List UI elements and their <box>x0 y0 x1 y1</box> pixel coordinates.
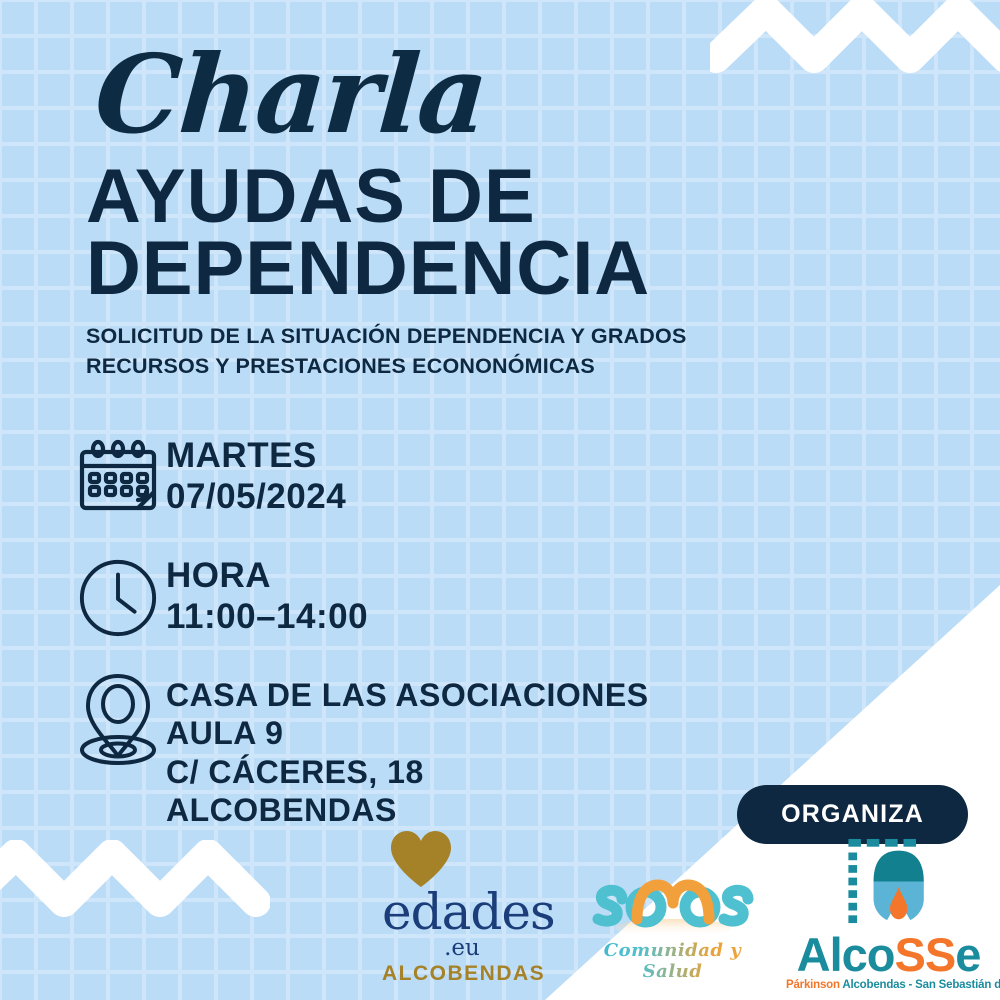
detail-time-line-2: 11:00–14:00 <box>166 597 368 638</box>
detail-date-text: MARTES 07/05/2024 <box>166 430 346 517</box>
detail-time-line-1: HORA <box>166 556 368 597</box>
detail-place-line-3: C/ CÁCERES, 18 <box>166 753 649 791</box>
logo-alcosse: AlcoSSe Párkinson Alcobendas - San Sebas… <box>786 835 991 992</box>
location-pin-icon <box>70 670 166 766</box>
heart-icon <box>388 829 454 889</box>
detail-place-line-1: CASA DE LAS ASOCIACIONES <box>166 676 649 714</box>
alcosse-word-part-3: e <box>955 928 980 981</box>
edades-wordmark: edades.eu <box>382 889 542 966</box>
subtitle-line-2: RECURSOS Y PRESTACIONES ECONONÓMICAS <box>86 351 786 382</box>
edades-subtitle: ALCOBENDAS <box>382 962 542 986</box>
detail-place-line-4: ALCOBENDAS <box>166 791 649 829</box>
detail-row-date: MARTES 07/05/2024 <box>70 430 770 526</box>
headline-block: Charla AYUDAS DE DEPENDENCIA SOLICITUD D… <box>86 44 786 382</box>
detail-place-line-2: AULA 9 <box>166 714 649 752</box>
alcosse-dome-icon <box>786 835 991 933</box>
edades-word: edades <box>382 889 555 935</box>
somos-wordmark-icon <box>585 875 760 942</box>
poster-canvas: Charla AYUDAS DE DEPENDENCIA SOLICITUD D… <box>0 0 1000 1000</box>
page-title-line-1: AYUDAS DE <box>86 161 786 233</box>
alcosse-tagline-highlight: Párkinson <box>786 979 840 991</box>
detail-date-line-1: MARTES <box>166 436 346 477</box>
alcosse-word-part-1: Alco <box>797 928 895 981</box>
detail-row-time: HORA 11:00–14:00 <box>70 550 770 646</box>
calendar-icon <box>70 430 166 526</box>
page-title: AYUDAS DE DEPENDENCIA <box>86 161 786 305</box>
page-title-line-2: DEPENDENCIA <box>86 233 786 305</box>
detail-time-text: HORA 11:00–14:00 <box>166 550 368 637</box>
logo-edades: edades.eu ALCOBENDAS <box>382 829 542 986</box>
subtitle-line-1: SOLICITUD DE LA SITUACIÓN DEPENDENCIA Y … <box>86 321 786 352</box>
logo-strip: edades.eu ALCOBENDAS <box>0 840 1000 1000</box>
clock-icon <box>70 550 166 646</box>
alcosse-word-part-2: SS <box>895 928 956 981</box>
detail-place-text: CASA DE LAS ASOCIACIONES AULA 9 C/ CÁCER… <box>166 670 649 830</box>
detail-date-line-2: 07/05/2024 <box>166 477 346 518</box>
detail-row-place: CASA DE LAS ASOCIACIONES AULA 9 C/ CÁCER… <box>70 670 770 830</box>
alcosse-wordmark: AlcoSSe <box>786 931 991 978</box>
subtitle: SOLICITUD DE LA SITUACIÓN DEPENDENCIA Y … <box>86 321 786 382</box>
alcosse-tagline: Párkinson Alcobendas - San Sebastián de … <box>786 979 991 992</box>
logo-somos: Comunidad y Salud <box>585 875 760 982</box>
event-details-list: MARTES 07/05/2024 HORA 11:00–14:00 <box>70 430 770 854</box>
somos-tagline: Comunidad y Salud <box>585 940 760 982</box>
alcosse-tagline-rest: Alcobendas - San Sebastián de los Reyes <box>840 979 1000 991</box>
script-title: Charla <box>92 44 793 147</box>
